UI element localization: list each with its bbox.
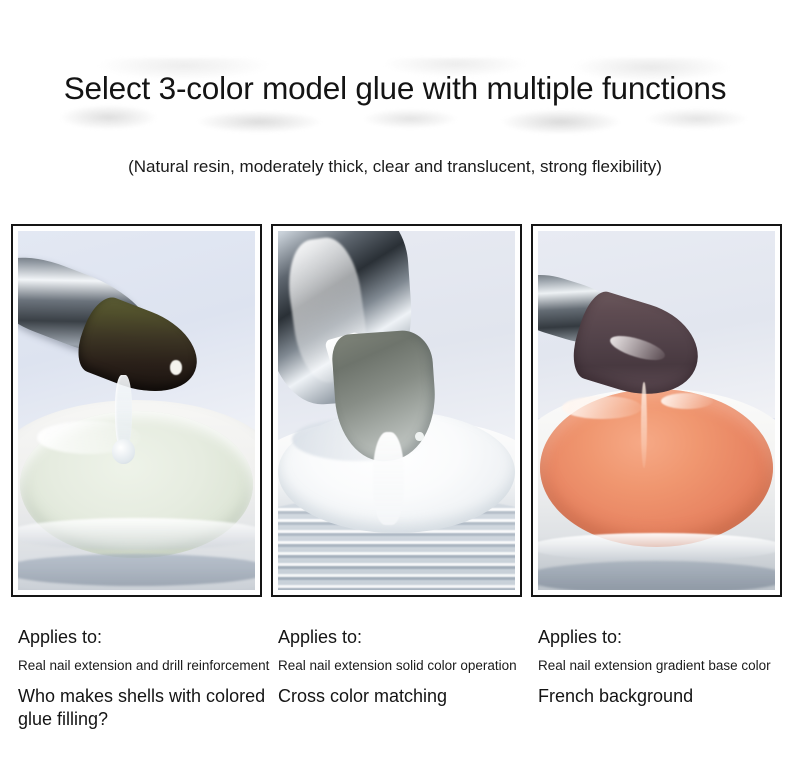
caption-column-orange-gel: Applies to: Real nail extension gradient… [538, 627, 790, 708]
jar-rim-highlight [538, 533, 775, 562]
caption-row: Applies to: Real nail extension and dril… [0, 627, 790, 767]
photo-white-gel [278, 231, 515, 590]
applies-to-highlight: Who makes shells with colored glue filli… [18, 685, 276, 730]
jar-rim-highlight [18, 518, 255, 550]
applies-to-label: Applies to: [538, 627, 790, 649]
applies-to-label: Applies to: [278, 627, 536, 649]
applies-to-highlight: French background [538, 685, 790, 708]
photo-clear-gel [18, 231, 255, 590]
product-photo-panel-orange-gel[interactable] [531, 224, 782, 597]
photo-orange-gel [538, 231, 775, 590]
applies-to-detail: Real nail extension and drill reinforcem… [18, 658, 276, 675]
applies-to-detail: Real nail extension solid color operatio… [278, 658, 536, 675]
product-photo-panel-white-gel[interactable] [271, 224, 522, 597]
gel-drip-strand [373, 432, 404, 525]
applies-to-highlight: Cross color matching [278, 685, 536, 708]
product-photo-gallery [11, 224, 779, 597]
applies-to-detail: Real nail extension gradient base color [538, 658, 790, 675]
caption-column-white-gel: Applies to: Real nail extension solid co… [278, 627, 536, 708]
brush-bristle-highlight [170, 360, 182, 374]
caption-column-clear-gel: Applies to: Real nail extension and dril… [18, 627, 276, 730]
page-title: Select 3-color model glue with multiple … [0, 70, 790, 107]
gel-surface-highlight-secondary [661, 393, 713, 409]
header: Select 3-color model glue with multiple … [0, 0, 790, 210]
brush-bristle-highlight [415, 432, 423, 441]
jar-rim-shadow [18, 554, 255, 586]
product-photo-panel-clear-gel[interactable] [11, 224, 262, 597]
jar-rim-shadow [538, 561, 775, 590]
page-subtitle: (Natural resin, moderately thick, clear … [0, 157, 790, 177]
gel-drip-highlight [641, 382, 647, 468]
applies-to-label: Applies to: [18, 627, 276, 649]
